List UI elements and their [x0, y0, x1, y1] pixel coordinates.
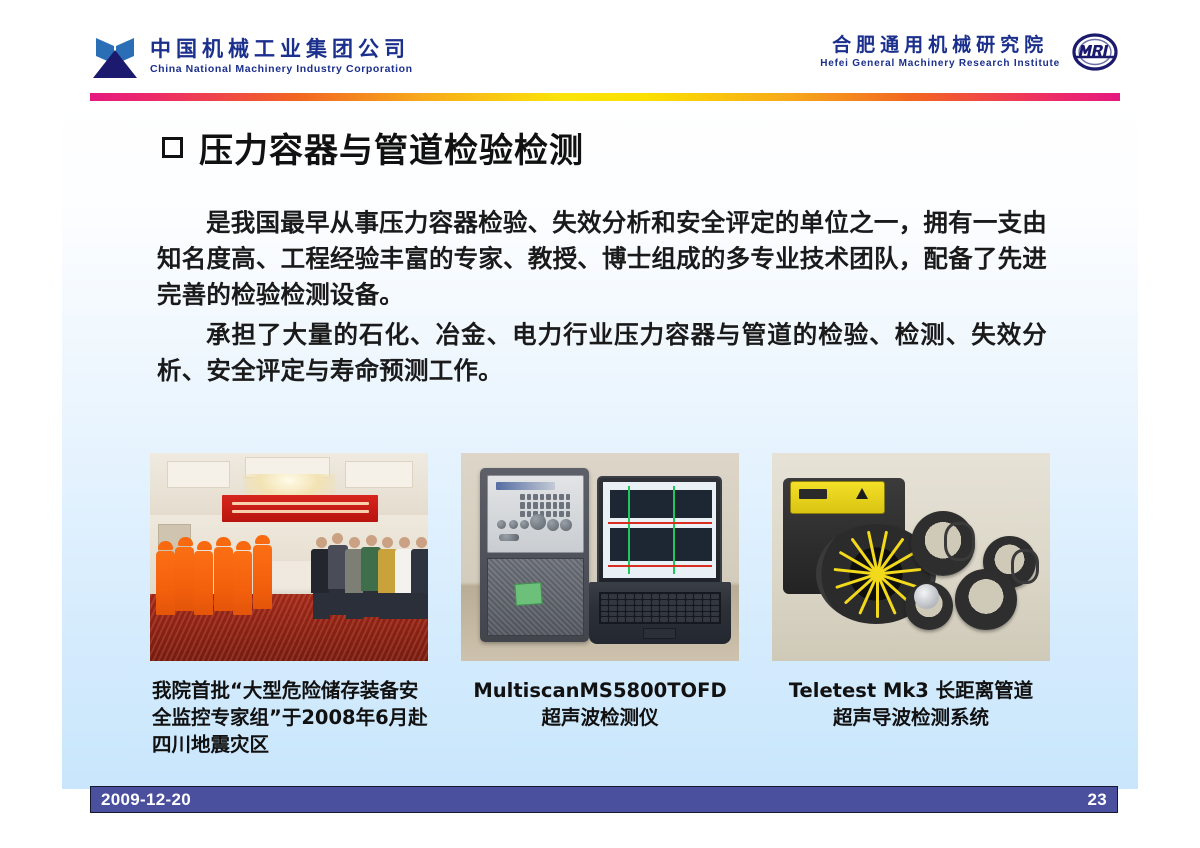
corporate-name-cn: 中国机械工业集团公司: [150, 39, 413, 60]
mri-circular-emblem-icon: [1072, 32, 1118, 72]
institute-logo-right: 合肥通用机械研究院 Hefei General Machinery Resear…: [820, 32, 1118, 72]
red-banner: [222, 495, 378, 522]
photo-row: 我院首批“大型危险储存装备安全监控专家组”于2008年6月赴四川地震灾区: [150, 453, 1050, 758]
collar-ring-3: [955, 569, 1016, 629]
photo-caption-2: MultiscanMS5800TOFD 超声波检测仪: [461, 677, 739, 731]
mountain-book-logo-icon: [90, 34, 140, 80]
photo-caption-3-line1: Teletest Mk3 长距离管道: [772, 677, 1050, 704]
slide: 中国机械工业集团公司 China National Machinery Indu…: [62, 18, 1138, 818]
square-bullet-icon: [162, 137, 183, 158]
photo-caption-1: 我院首批“大型危险储存装备安全监控专家组”于2008年6月赴四川地震灾区: [150, 677, 428, 758]
photo-cell-2: MultiscanMS5800TOFD 超声波检测仪: [461, 453, 739, 758]
page-title-text: 压力容器与管道检验检测: [199, 123, 584, 172]
slide-body: 压力容器与管道检验检测 是我国最早从事压力容器检验、失效分析和安全评定的单位之一…: [62, 101, 1138, 789]
photo-caption-2-line2: 超声波检测仪: [461, 704, 739, 731]
footer-page-number: 23: [1087, 790, 1107, 810]
photo-caption-3-line2: 超声导波检测系统: [772, 704, 1050, 731]
slide-footer: 2009-12-20 23: [90, 786, 1118, 813]
photo-caption-2-line1: MultiscanMS5800TOFD: [461, 677, 739, 704]
photo-ceremony: [150, 453, 428, 661]
photo-caption-3: Teletest Mk3 长距离管道 超声导波检测系统: [772, 677, 1050, 731]
paragraph-1: 是我国最早从事压力容器检验、失效分析和安全评定的单位之一，拥有一支由知名度高、工…: [157, 205, 1047, 313]
page-title: 压力容器与管道检验检测: [162, 123, 584, 172]
slide-header: 中国机械工业集团公司 China National Machinery Indu…: [62, 18, 1138, 90]
footer-date: 2009-12-20: [101, 790, 191, 810]
photo-teletest-mk3: [772, 453, 1050, 661]
photo-cell-1: 我院首批“大型危险储存装备安全监控专家组”于2008年6月赴四川地震灾区: [150, 453, 428, 758]
institute-name-en: Hefei General Machinery Research Institu…: [820, 59, 1060, 69]
paragraph-2: 承担了大量的石化、冶金、电力行业压力容器与管道的检验、检测、失效分析、安全评定与…: [157, 317, 1047, 389]
institute-name-cn: 合肥通用机械研究院: [820, 36, 1060, 55]
header-gradient-divider: [90, 93, 1120, 101]
photo-cell-3: Teletest Mk3 长距离管道 超声导波检测系统: [772, 453, 1050, 758]
corporate-logo-left: 中国机械工业集团公司 China National Machinery Indu…: [90, 34, 413, 80]
photo-multiscan-tofd: [461, 453, 739, 661]
corporate-name-en: China National Machinery Industry Corpor…: [150, 64, 413, 75]
